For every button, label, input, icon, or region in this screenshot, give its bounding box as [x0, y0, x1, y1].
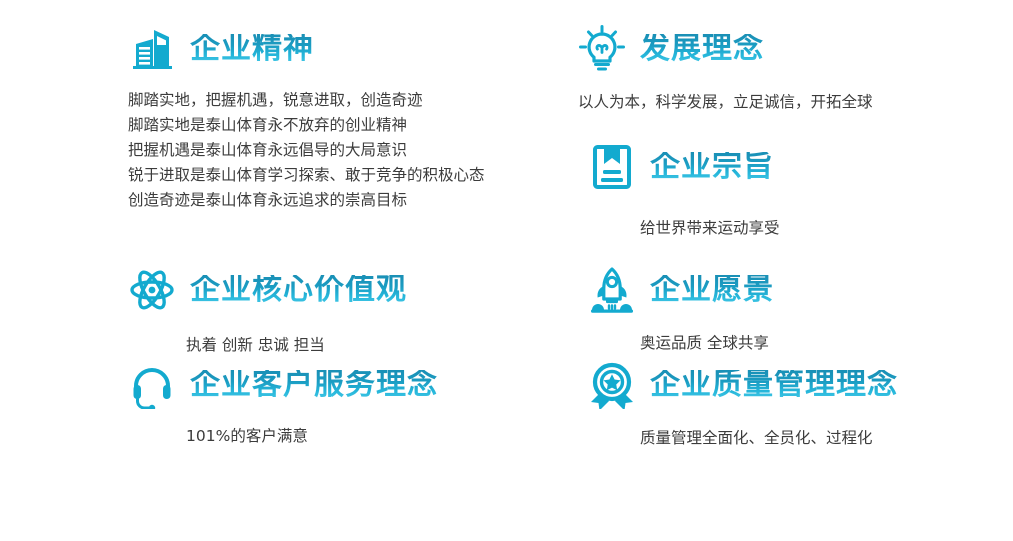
body-line: 脚踏实地，把握机遇，锐意进取，创造奇迹 — [128, 88, 485, 113]
section-development-body: 以人为本，科学发展，立足诚信，开拓全球 — [578, 90, 873, 115]
body-line: 奥运品质 全球共享 — [640, 331, 774, 356]
section-vision: 企业愿景 奥运品质 全球共享 — [588, 263, 774, 356]
section-development-heading: 发展理念 — [640, 34, 764, 64]
body-line: 脚踏实地是泰山体育永不放弃的创业精神 — [128, 113, 485, 138]
body-line: 以人为本，科学发展，立足诚信，开拓全球 — [578, 90, 873, 115]
body-line: 质量管理全面化、全员化、过程化 — [640, 426, 898, 451]
section-spirit: 企业精神 脚踏实地，把握机遇，锐意进取，创造奇迹 脚踏实地是泰山体育永不放弃的创… — [128, 22, 485, 213]
section-quality-header: 企业质量管理理念 — [588, 358, 898, 412]
medal-star-icon — [588, 361, 636, 409]
section-purpose-body: 给世界带来运动享受 — [588, 216, 780, 241]
section-quality-heading: 企业质量管理理念 — [650, 370, 898, 400]
section-development-header: 发展理念 — [578, 22, 873, 76]
body-line: 给世界带来运动享受 — [640, 216, 780, 241]
section-vision-body: 奥运品质 全球共享 — [588, 331, 774, 356]
book-bookmark-icon — [588, 143, 636, 191]
body-line: 把握机遇是泰山体育永远倡导的大局意识 — [128, 138, 485, 163]
section-purpose: 企业宗旨 给世界带来运动享受 — [588, 140, 780, 241]
body-line: 执着 创新 忠诚 担当 — [186, 333, 407, 358]
rocket-icon — [588, 266, 636, 314]
section-spirit-body: 脚踏实地，把握机遇，锐意进取，创造奇迹 脚踏实地是泰山体育永不放弃的创业精神 把… — [128, 88, 485, 213]
building-icon — [128, 25, 176, 73]
section-service-heading: 企业客户服务理念 — [190, 370, 438, 400]
section-purpose-header: 企业宗旨 — [588, 140, 780, 194]
section-spirit-header: 企业精神 — [128, 22, 485, 76]
section-core-values-heading: 企业核心价值观 — [190, 275, 407, 305]
atom-icon — [128, 266, 176, 314]
section-quality: 企业质量管理理念 质量管理全面化、全员化、过程化 — [588, 358, 898, 451]
section-service-header: 企业客户服务理念 — [128, 358, 438, 412]
section-core-values-body: 执着 创新 忠诚 担当 — [128, 333, 407, 358]
section-vision-heading: 企业愿景 — [650, 275, 774, 305]
section-purpose-heading: 企业宗旨 — [650, 152, 774, 182]
body-line: 创造奇迹是泰山体育永远追求的崇高目标 — [128, 188, 485, 213]
section-spirit-heading: 企业精神 — [190, 34, 314, 64]
company-culture-page: 企业精神 脚踏实地，把握机遇，锐意进取，创造奇迹 脚踏实地是泰山体育永不放弃的创… — [0, 0, 1013, 541]
body-line: 锐于进取是泰山体育学习探索、敢于竞争的积极心态 — [128, 163, 485, 188]
headset-icon — [128, 361, 176, 409]
lightbulb-heart-icon — [578, 25, 626, 73]
body-line: 101%的客户满意 — [186, 424, 438, 449]
section-service-body: 101%的客户满意 — [128, 424, 438, 449]
section-vision-header: 企业愿景 — [588, 263, 774, 317]
section-development: 发展理念 以人为本，科学发展，立足诚信，开拓全球 — [578, 22, 873, 115]
section-quality-body: 质量管理全面化、全员化、过程化 — [588, 426, 898, 451]
section-service: 企业客户服务理念 101%的客户满意 — [128, 358, 438, 449]
section-core-values: 企业核心价值观 执着 创新 忠诚 担当 — [128, 263, 407, 358]
section-core-values-header: 企业核心价值观 — [128, 263, 407, 317]
